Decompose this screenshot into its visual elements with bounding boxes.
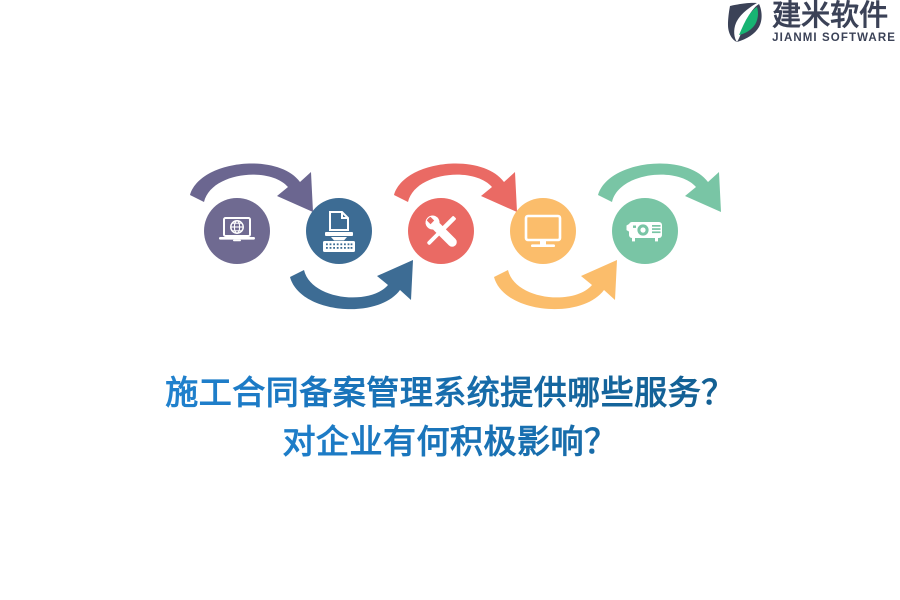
brand-logo[interactable]: 建米软件 JIANMI SOFTWARE — [726, 0, 896, 48]
step-icon-monitor — [510, 198, 576, 264]
step-icon-projector — [612, 198, 678, 264]
brand-name-en: JIANMI SOFTWARE — [772, 31, 896, 45]
process-infographic — [0, 140, 900, 320]
brand-text-block: 建米软件 JIANMI SOFTWARE — [772, 0, 896, 45]
page-title: 施工合同备案管理系统提供哪些服务？ 对企业有何积极影响？ — [0, 368, 900, 466]
step-icon-printer — [306, 198, 372, 264]
page-title-line-1: 施工合同备案管理系统提供哪些服务？ — [0, 368, 900, 417]
arrow-step-4 — [494, 260, 617, 309]
step-icon-laptop-globe — [204, 198, 270, 264]
arrow-step-2 — [290, 260, 413, 309]
step-icon-tools — [408, 198, 474, 264]
page-title-line-2: 对企业有何积极影响？ — [0, 417, 900, 466]
brand-name-cn: 建米软件 — [772, 0, 896, 30]
jianmi-swoosh-leaf-logo-icon — [726, 0, 770, 44]
